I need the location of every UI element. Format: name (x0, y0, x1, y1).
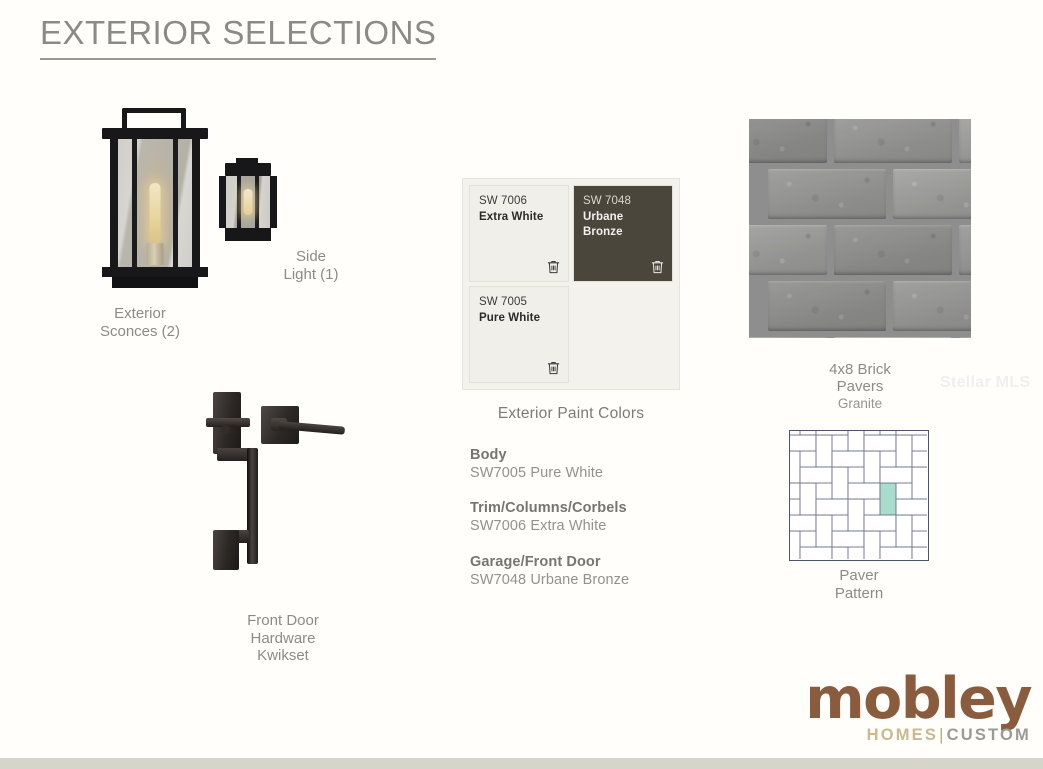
handleset-grip (247, 448, 258, 564)
brick-unit (768, 281, 886, 331)
paver-tile (790, 451, 800, 483)
front-door-hardware-image (205, 392, 350, 572)
paver-tile (848, 483, 880, 499)
side-light-mullion-right (255, 176, 259, 228)
page-title: EXTERIOR SELECTIONS (40, 14, 436, 60)
paver-tile (832, 547, 848, 559)
paint-assignment-label: Body (470, 446, 720, 464)
paver-tile (912, 531, 927, 547)
logo-tagline-right: CUSTOM (947, 726, 1031, 744)
paint-assignment-row: Trim/Columns/Corbels SW7006 Extra White (470, 499, 720, 535)
swatch-name: Urbane Bronze (583, 210, 663, 241)
paver-tile (896, 515, 912, 547)
paint-assignment-row: Garage/Front Door SW7048 Urbane Bronze (470, 553, 720, 589)
front-door-hardware-caption: Front Door Hardware Kwikset (213, 612, 353, 665)
paint-assignment-value: SW7048 Urbane Bronze (470, 571, 720, 589)
paver-pattern-caption: Paver Pattern (789, 567, 929, 602)
paver-tile (848, 431, 864, 451)
trash-icon[interactable] (651, 260, 664, 274)
paver-tile (864, 451, 880, 483)
paver-tile (880, 467, 912, 483)
brick-pavers-caption-sub: Granite (785, 396, 935, 412)
side-light-image (219, 163, 277, 241)
swatch-name: Pure White (479, 311, 559, 327)
sconce-top-rail (102, 128, 208, 139)
paver-tile (832, 451, 864, 467)
paint-assignment-row: Body SW7005 Pure White (470, 446, 720, 482)
exterior-sconce-image (100, 108, 210, 288)
slide-canvas: EXTERIOR SELECTIONS Exterior Sconces (2)… (0, 0, 1043, 769)
paint-swatch-empty-slot[interactable] (573, 286, 673, 383)
paver-tile (864, 435, 896, 451)
paver-tile (790, 483, 800, 499)
brick-unit (959, 119, 971, 163)
swatch-code: SW 7006 (479, 194, 559, 210)
paver-tile (880, 547, 912, 559)
paver-tile (912, 547, 927, 559)
sconce-bulb (150, 183, 161, 245)
paver-tile (790, 515, 816, 531)
paver-tile (864, 531, 880, 559)
bottom-bar (0, 758, 1043, 769)
brick-row (749, 167, 971, 223)
paver-tile (790, 435, 816, 451)
paint-swatch[interactable]: SW 7006 Extra White (469, 185, 569, 282)
sconce-mullion-right (173, 139, 178, 267)
brick-unit (959, 225, 971, 275)
side-light-cap (225, 163, 271, 176)
paver-tile (912, 467, 927, 499)
brick-unit (768, 169, 886, 219)
paver-pattern-diagram (789, 430, 929, 561)
paver-tile (800, 483, 816, 515)
brick-unit (834, 225, 952, 275)
swatch-name: Extra White (479, 210, 559, 226)
paver-tile (896, 499, 927, 515)
paint-assignment-value: SW7006 Extra White (470, 517, 720, 535)
paint-swatch-panel: SW 7006 Extra White SW 7048 Urbane Bronz… (462, 178, 680, 390)
brick-unit (959, 337, 971, 338)
paver-tile (832, 467, 848, 499)
paint-assignment-label: Garage/Front Door (470, 553, 720, 571)
paver-tile (912, 451, 927, 467)
logo-tagline-left: HOMES (867, 726, 939, 744)
swatch-code: SW 7005 (479, 295, 559, 311)
exterior-paint-colors-heading: Exterior Paint Colors (462, 405, 680, 423)
paver-tile (864, 515, 896, 531)
paver-tile (896, 435, 912, 467)
paver-tile (800, 547, 832, 559)
paint-swatch[interactable]: SW 7005 Pure White (469, 286, 569, 383)
paver-tile (896, 431, 927, 435)
brick-row (749, 223, 971, 279)
brick-paver-photo (749, 119, 971, 338)
brick-unit (893, 169, 971, 219)
paver-tile (848, 499, 864, 531)
paint-assignments-list: Body SW7005 Pure White Trim/Columns/Corb… (470, 446, 720, 606)
swatch-code: SW 7048 (583, 194, 663, 210)
side-light-mullion-left (237, 176, 241, 228)
brick-unit (834, 337, 952, 338)
paint-assignment-value: SW7005 Pure White (470, 464, 720, 482)
paver-tile (880, 431, 896, 435)
trash-icon[interactable] (547, 260, 560, 274)
stellar-mls-watermark: Stellar MLS (940, 374, 1030, 392)
paver-tile (832, 531, 864, 547)
logo-wordmark: mobley (805, 673, 1031, 725)
paver-tile-highlighted (880, 483, 896, 515)
mobley-logo: mobley HOMES|CUSTOM (805, 673, 1031, 745)
brick-pavers-caption: 4x8 Brick Pavers Granite (785, 343, 935, 430)
logo-tagline-divider: | (938, 726, 947, 744)
paver-tile (816, 515, 832, 547)
brick-unit (893, 281, 971, 331)
paint-assignment-label: Trim/Columns/Corbels (470, 499, 720, 517)
paver-tile (800, 467, 832, 483)
side-light-lantern-body (219, 176, 277, 228)
sconce-bottom-rail (102, 267, 208, 277)
brick-unit (749, 119, 827, 163)
brick-pavers-caption-main: 4x8 Brick Pavers (829, 361, 891, 396)
side-light-caption: Side Light (1) (249, 248, 373, 283)
brick-unit (834, 119, 952, 163)
paver-tile (800, 431, 816, 435)
paver-tile (816, 499, 848, 515)
brick-row (749, 335, 971, 338)
handleset-lower-plate (213, 530, 239, 570)
side-light-base (225, 228, 271, 241)
brick-unit (749, 225, 827, 275)
sconce-socket (147, 243, 164, 265)
exterior-sconces-caption: Exterior Sconces (2) (70, 305, 210, 340)
sconce-base (112, 277, 198, 288)
paver-tile (816, 431, 848, 435)
sconce-hanger (122, 108, 186, 130)
side-light-bulb (244, 189, 253, 215)
brick-row (749, 279, 971, 335)
handleset-keyhole (221, 425, 230, 434)
brick-unit (749, 337, 827, 338)
sconce-mullion-left (132, 139, 137, 267)
sconce-lantern-body (110, 139, 200, 267)
brick-row (749, 119, 971, 167)
paint-swatch[interactable]: SW 7048 Urbane Bronze (573, 185, 673, 282)
trash-icon[interactable] (547, 361, 560, 375)
paver-tile (816, 435, 832, 467)
paver-tile (790, 531, 800, 559)
paint-swatch-grid: SW 7006 Extra White SW 7048 Urbane Bronz… (469, 185, 673, 383)
